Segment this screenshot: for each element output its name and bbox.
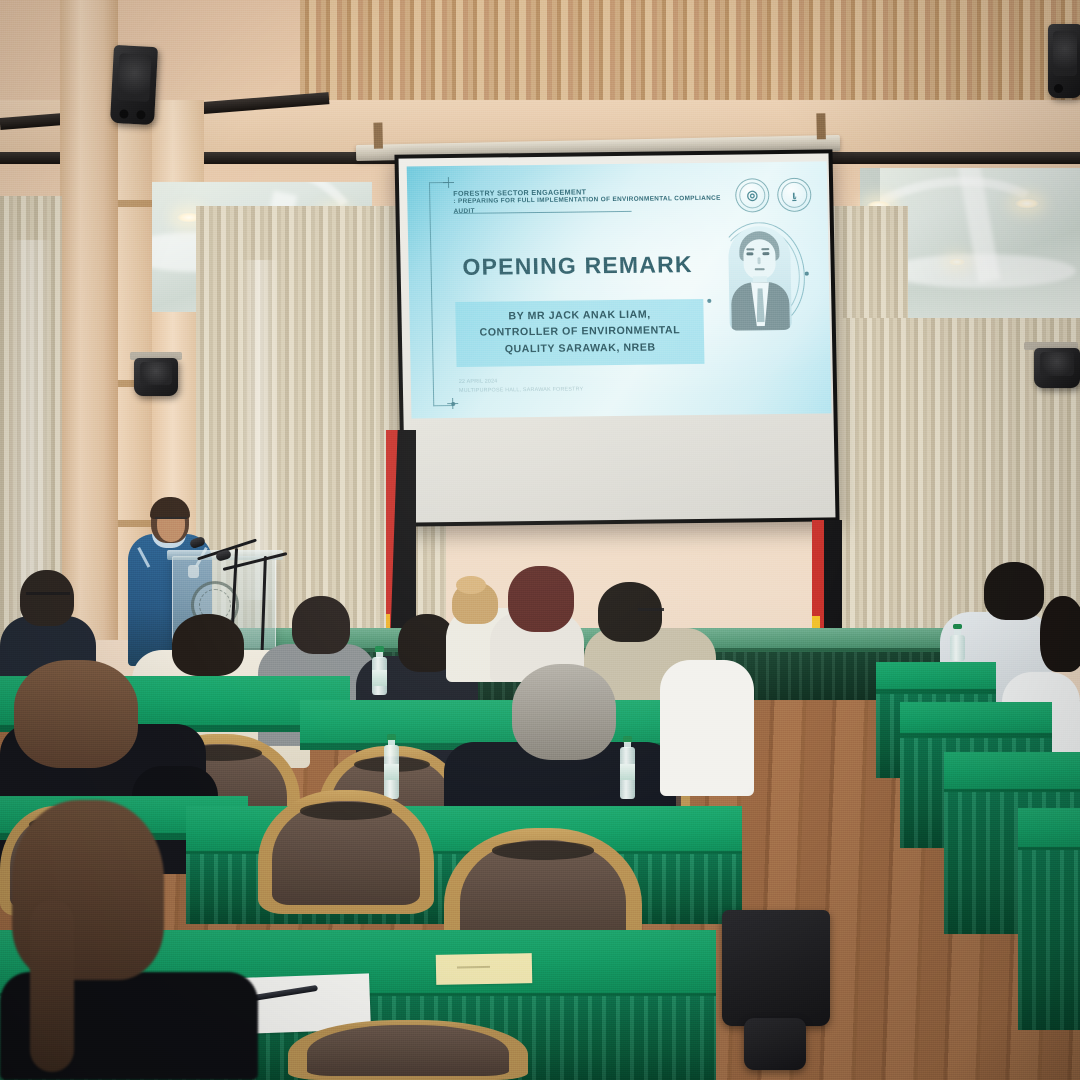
audience-member-head bbox=[512, 664, 616, 760]
shoe-on-floor bbox=[744, 1018, 806, 1070]
slide-dot-marker-icon bbox=[451, 402, 455, 406]
table-skirt-right bbox=[1018, 850, 1080, 1030]
audience-member-head bbox=[14, 660, 138, 768]
slide-footnote: 22 APRIL 2024 MULTIPURPOSE HALL, SARAWAK… bbox=[459, 375, 629, 395]
slide-byline-block: BY MR JACK ANAK LIAM, CONTROLLER OF ENVI… bbox=[455, 299, 704, 367]
yellow-note-card bbox=[436, 953, 533, 985]
agency-logo-right-icon: ⍸ bbox=[777, 178, 812, 212]
audience-member-eyeglasses-icon bbox=[26, 592, 70, 600]
ceiling-speaker-right bbox=[1048, 24, 1080, 98]
slide-portrait-illustration bbox=[720, 220, 800, 333]
presentation-slide: FORESTRY SECTOR ENGAGEMENT : PREPARING F… bbox=[407, 161, 832, 418]
sarawak-flag-left bbox=[386, 430, 416, 640]
water-bottle bbox=[950, 624, 965, 654]
foreground-person-ponytail bbox=[30, 900, 74, 1072]
banquet-chair-foreground bbox=[288, 1020, 528, 1080]
water-bottle bbox=[372, 646, 387, 688]
agency-logo-left-icon: ◎ bbox=[735, 178, 770, 212]
ceiling-speaker-left bbox=[110, 45, 158, 125]
conference-hall-photo: FORESTRY SECTOR ENGAGEMENT : PREPARING F… bbox=[0, 0, 1080, 1080]
audience-member-torso bbox=[660, 660, 754, 796]
water-bottle bbox=[620, 736, 635, 794]
wall-column-left bbox=[60, 0, 118, 640]
banquet-table-right bbox=[900, 702, 1052, 740]
slide-plus-marker-icon bbox=[443, 177, 454, 188]
slide-byline-line-2: CONTROLLER OF ENVIRONMENTAL bbox=[462, 322, 698, 341]
audience-member-head bbox=[292, 596, 350, 654]
agency-logo-left-mark: ◎ bbox=[736, 179, 769, 211]
audience-member-head bbox=[508, 566, 574, 632]
wall-speaker-right bbox=[1034, 348, 1080, 388]
wooden-ceiling-slats bbox=[300, 0, 1080, 112]
backpack-on-floor bbox=[722, 910, 830, 1026]
audience-member-head bbox=[984, 562, 1044, 620]
audience-member-head bbox=[172, 614, 244, 676]
wall-speaker-left bbox=[134, 358, 178, 396]
water-bottle bbox=[384, 734, 399, 794]
audience-member-hair-bun bbox=[456, 576, 486, 594]
audience-member-head bbox=[1040, 596, 1080, 672]
audience-member-eyeglasses-icon bbox=[638, 608, 664, 615]
slide-title: OPENING REMARK bbox=[450, 251, 705, 281]
ceiling-spotlight bbox=[1014, 198, 1040, 209]
ceiling-spotlight bbox=[948, 258, 966, 266]
agency-logo-right-mark: ⍸ bbox=[778, 179, 811, 211]
banquet-table-right bbox=[944, 752, 1080, 796]
banquet-table-right bbox=[876, 662, 996, 696]
presenter-eyeglasses-icon bbox=[155, 517, 187, 525]
slide-byline-line-3: QUALITY SARAWAK, NREB bbox=[462, 339, 698, 358]
slide-decorative-bracket bbox=[429, 182, 453, 406]
banquet-chair bbox=[258, 790, 434, 914]
banquet-table-right bbox=[1018, 808, 1080, 854]
projection-screen-surface: FORESTRY SECTOR ENGAGEMENT : PREPARING F… bbox=[399, 153, 836, 522]
projection-screen: FORESTRY SECTOR ENGAGEMENT : PREPARING F… bbox=[394, 149, 839, 526]
